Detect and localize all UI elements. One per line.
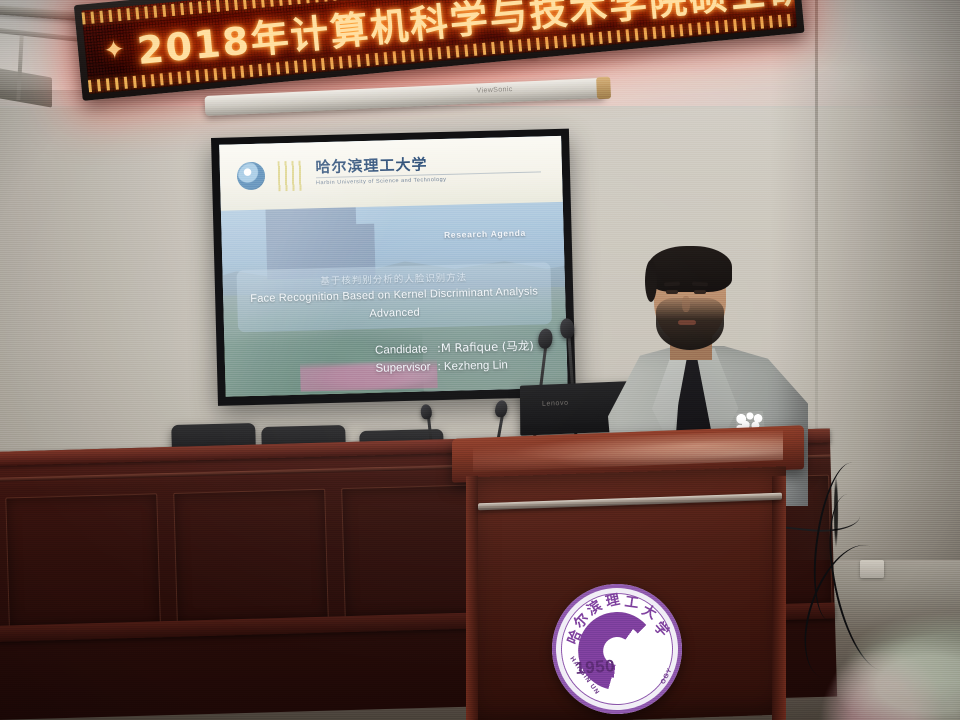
- presentation-slide: 哈尔滨理工大学 Harbin University of Science and…: [219, 136, 567, 397]
- supervisor-label: Supervisor: [375, 359, 437, 378]
- presentation-room-photo: ✦ 2018年计算机科学与技术学院硕士研究生答辩 ViewSonic: [0, 0, 960, 720]
- slide-header: 哈尔滨理工大学 Harbin University of Science and…: [219, 136, 563, 210]
- presenter-mouth: [678, 320, 696, 325]
- university-logo-icon: [237, 162, 266, 191]
- podium: 1950 哈 尔 滨 理 工 大 学 HARBIN UN OGY: [452, 432, 804, 720]
- led-decoration-icon: ✦: [98, 31, 131, 68]
- housing-end-cap: [596, 77, 611, 100]
- slide-meta: Candidate:M Rafique (马龙) Supervisor: Kez…: [375, 338, 535, 378]
- wainscot-panel-1: [5, 493, 161, 629]
- emblem-name-en: HARBIN UN OGY: [548, 580, 687, 719]
- university-logo-bars-icon: [278, 161, 305, 192]
- wall-shadow-left: [0, 90, 230, 470]
- presenter-eye-right: [694, 290, 706, 294]
- presenter-hair: [648, 246, 732, 292]
- presenter-nose: [682, 296, 690, 312]
- laptop-brand-label: Lenovo: [542, 400, 569, 408]
- projection-screen: 哈尔滨理工大学 Harbin University of Science and…: [211, 129, 576, 406]
- presenter-eye-left: [666, 290, 678, 294]
- emblem-en-right: OGY: [660, 667, 674, 686]
- research-agenda-label: Research Agenda: [444, 228, 526, 240]
- candidate-label: Candidate: [375, 342, 437, 361]
- candidate-value: :M Rafique (马龙): [437, 339, 534, 356]
- emblem-en-left: HARBIN UN: [568, 655, 600, 696]
- wainscot-panel-2: [173, 489, 329, 625]
- slide-title-band: 基于核判别分析的人脸识别方法 Face Recognition Based on…: [236, 262, 552, 332]
- university-name-cn: 哈尔滨理工大学: [315, 154, 428, 178]
- projection-screen-surface: 哈尔滨理工大学 Harbin University of Science and…: [219, 136, 567, 397]
- supervisor-value: : Kezheng Lin: [437, 359, 508, 373]
- podium-edge-left: [466, 476, 478, 720]
- led-banner-text: 2018年计算机科学与技术学院硕士研究生答辩: [134, 0, 781, 75]
- decorative-flowers: [784, 610, 960, 720]
- viewsonic-logo: ViewSonic: [476, 86, 512, 95]
- university-name-en: Harbin University of Science and Technol…: [316, 177, 447, 186]
- podium-gloss-highlight: [473, 430, 783, 473]
- university-emblem: 1950 哈 尔 滨 理 工 大 学 HARBIN UN OGY: [548, 580, 687, 719]
